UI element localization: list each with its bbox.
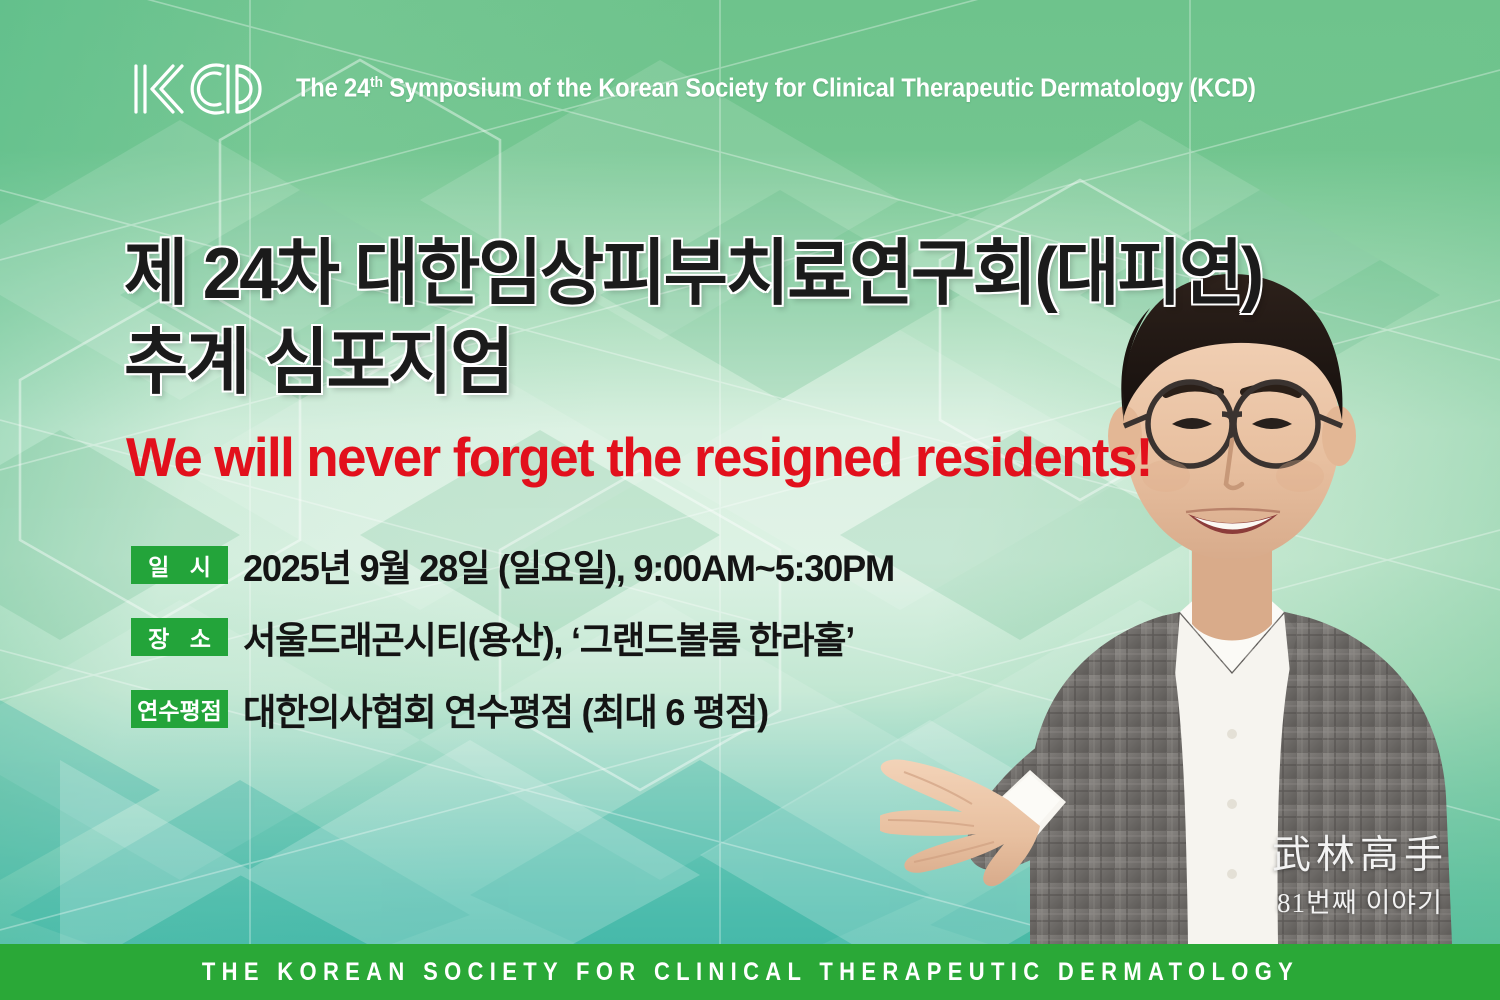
info-row-venue: 장 소 서울드래곤시티(용산), ‘그랜드볼룸 한라홀’ [131,610,907,664]
header-title-post: Symposium of the Korean Society for Clin… [383,75,1256,103]
watermark-chinese: 武林高手 [1272,834,1448,879]
kcd-logo-icon [128,58,280,120]
info-text-credits: 대한의사협회 연수평점 (최대 6 평점) [243,682,768,736]
info-row-date: 일 시 2025년 9월 28일 (일요일), 9:00AM~5:30PM [131,538,907,592]
footer-bar: THE KOREAN SOCIETY FOR CLINICAL THERAPEU… [0,944,1500,1000]
watermark-korean: 81번째 이야기 [1272,881,1448,920]
title-line-1: 제 24차 대한임상피부치료연구회(대피연) [124,230,1262,319]
badge-venue: 장 소 [131,618,228,656]
title-line-2: 추계 심포지엄 [124,319,1262,408]
info-text-date: 2025년 9월 28일 (일요일), 9:00AM~5:30PM [243,538,894,592]
poster-header: The 24th Symposium of the Korean Society… [128,58,1328,120]
header-title-ordinal: th [370,74,383,91]
poster-root: The 24th Symposium of the Korean Society… [0,0,1500,1000]
info-text-venue: 서울드래곤시티(용산), ‘그랜드볼룸 한라홀’ [243,610,854,664]
info-row-credits: 연수평점 대한의사협회 연수평점 (최대 6 평점) [131,682,907,736]
subtitle-slogan: We will never forget the resigned reside… [126,425,1152,489]
badge-date: 일 시 [131,546,228,584]
watermark-caption: 武林高手 81번째 이야기 [1272,834,1448,920]
header-title-pre: The 24 [296,75,370,103]
page-title: 제 24차 대한임상피부치료연구회(대피연) 추계 심포지엄 [124,230,1297,409]
header-title: The 24th Symposium of the Korean Society… [296,74,1256,104]
badge-credits: 연수평점 [131,690,228,728]
footer-society-name: THE KOREAN SOCIETY FOR CLINICAL THERAPEU… [201,958,1298,987]
info-list: 일 시 2025년 9월 28일 (일요일), 9:00AM~5:30PM 장 … [131,538,907,736]
